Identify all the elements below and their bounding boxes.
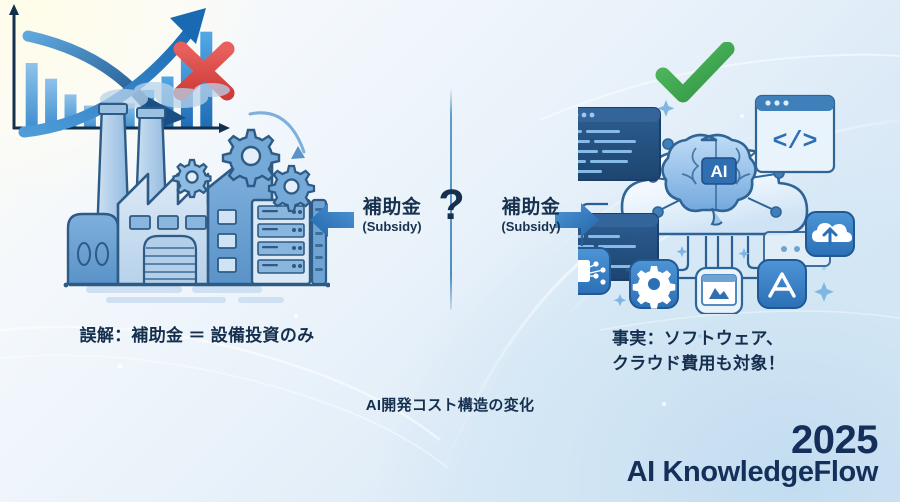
- cloud-ai-brain-icon: AI: [578, 86, 856, 314]
- subsidy-label-left-en: (Subsidy): [350, 220, 434, 234]
- svg-text:AI: AI: [711, 162, 728, 181]
- code-brackets-icon: </>: [756, 96, 834, 172]
- infographic-canvas: AI: [0, 0, 900, 502]
- browser-window-tile-icon: [696, 268, 742, 314]
- brand-year: 2025: [627, 420, 878, 461]
- right-caption-line2: クラウド費用も対象！: [612, 352, 862, 377]
- arrow-left-icon: [308, 196, 356, 244]
- subsidy-label-right-jp: 補助金: [489, 198, 573, 218]
- question-mark: ?: [434, 184, 468, 227]
- svg-text:</>: </>: [772, 127, 817, 156]
- left-caption: 誤解：補助金 ＝ 設備投資のみ: [66, 325, 328, 347]
- right-caption-line1: 事実：ソフトウェア、: [612, 329, 783, 348]
- chart-caption: AI開発コスト構造の変化: [332, 397, 568, 415]
- data-network-tile-icon: [578, 248, 610, 294]
- gear-small-icon: [174, 160, 211, 197]
- gear-tile-icon: [630, 260, 678, 309]
- cloud-upload-tile-icon: [806, 212, 854, 256]
- subsidy-label-left-jp: 補助金: [350, 198, 434, 218]
- right-caption: 事実：ソフトウェア、 クラウド費用も対象！: [612, 327, 862, 376]
- factory-icon: [62, 78, 330, 310]
- app-store-tile-icon: [758, 260, 806, 308]
- brand-name: AI KnowledgeFlow: [627, 458, 878, 488]
- gear-large-icon: [223, 130, 279, 186]
- subsidy-label-left: 補助金 (Subsidy): [350, 198, 434, 234]
- chart-bar: [26, 63, 38, 128]
- subsidy-label-right: 補助金 (Subsidy): [489, 198, 573, 234]
- code-window-icon: [578, 108, 660, 180]
- branding: 2025 AI KnowledgeFlow: [627, 420, 878, 488]
- subsidy-label-right-en: (Subsidy): [489, 220, 573, 234]
- chart-bar: [45, 79, 57, 128]
